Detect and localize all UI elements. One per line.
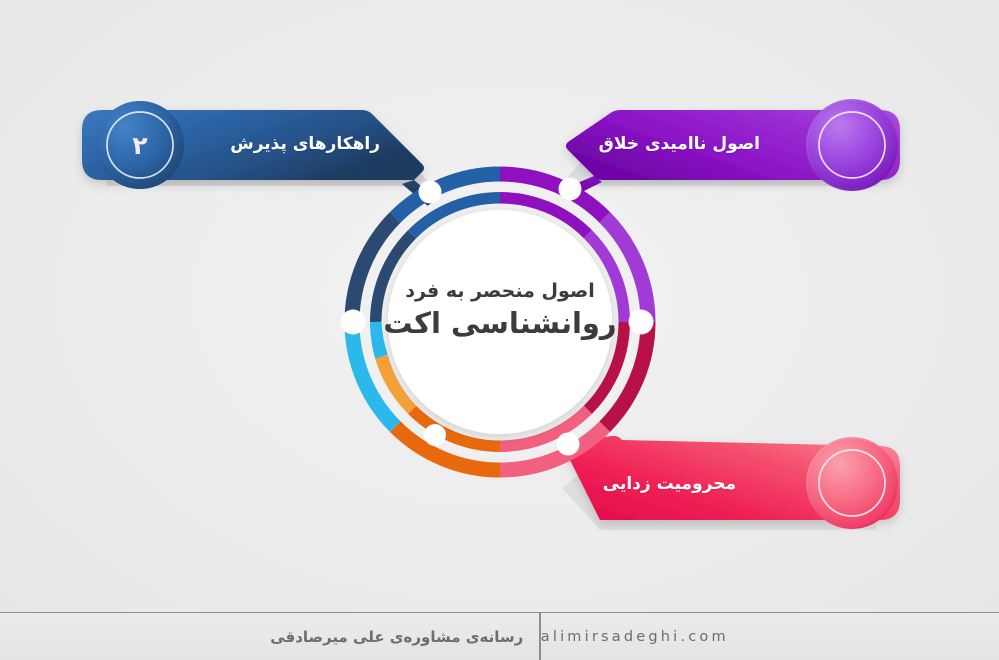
banner-3-badge: [808, 439, 896, 527]
node-dot-left: [341, 310, 366, 335]
footer-divider: [539, 613, 541, 660]
banner-2-badge: [96, 101, 184, 189]
banner-2-label: راهکارهای پذیرش: [230, 134, 380, 154]
central-wheel: اصول منحصر به فرد روانشناسی اکت: [330, 152, 670, 492]
wheel-rings: [330, 152, 670, 492]
footer-bar: alimirsadeghi.com رسانه‌ی مشاوره‌ی علی م…: [0, 612, 999, 660]
node-dot-bottom-left: [424, 424, 446, 446]
footer-website[interactable]: alimirsadeghi.com: [541, 629, 745, 645]
node-dot-bottom-right: [557, 433, 580, 456]
infographic-canvas: راهکارهای پذیرش ۲: [0, 0, 999, 660]
banner-1-label: اصول ناامیدی خلاق: [599, 134, 760, 154]
footer-brand: رسانه‌ی مشاوره‌ی علی میرصادقی: [254, 628, 539, 646]
banner-1-badge: [808, 101, 896, 189]
wheel-center-disc: [388, 210, 612, 434]
node-dot-right: [629, 310, 654, 335]
footer-content: alimirsadeghi.com رسانه‌ی مشاوره‌ی علی م…: [0, 613, 999, 660]
arc-inner-cyan: [374, 322, 381, 357]
node-dot-top-right: [559, 178, 582, 201]
node-dot-top-left: [419, 181, 442, 204]
